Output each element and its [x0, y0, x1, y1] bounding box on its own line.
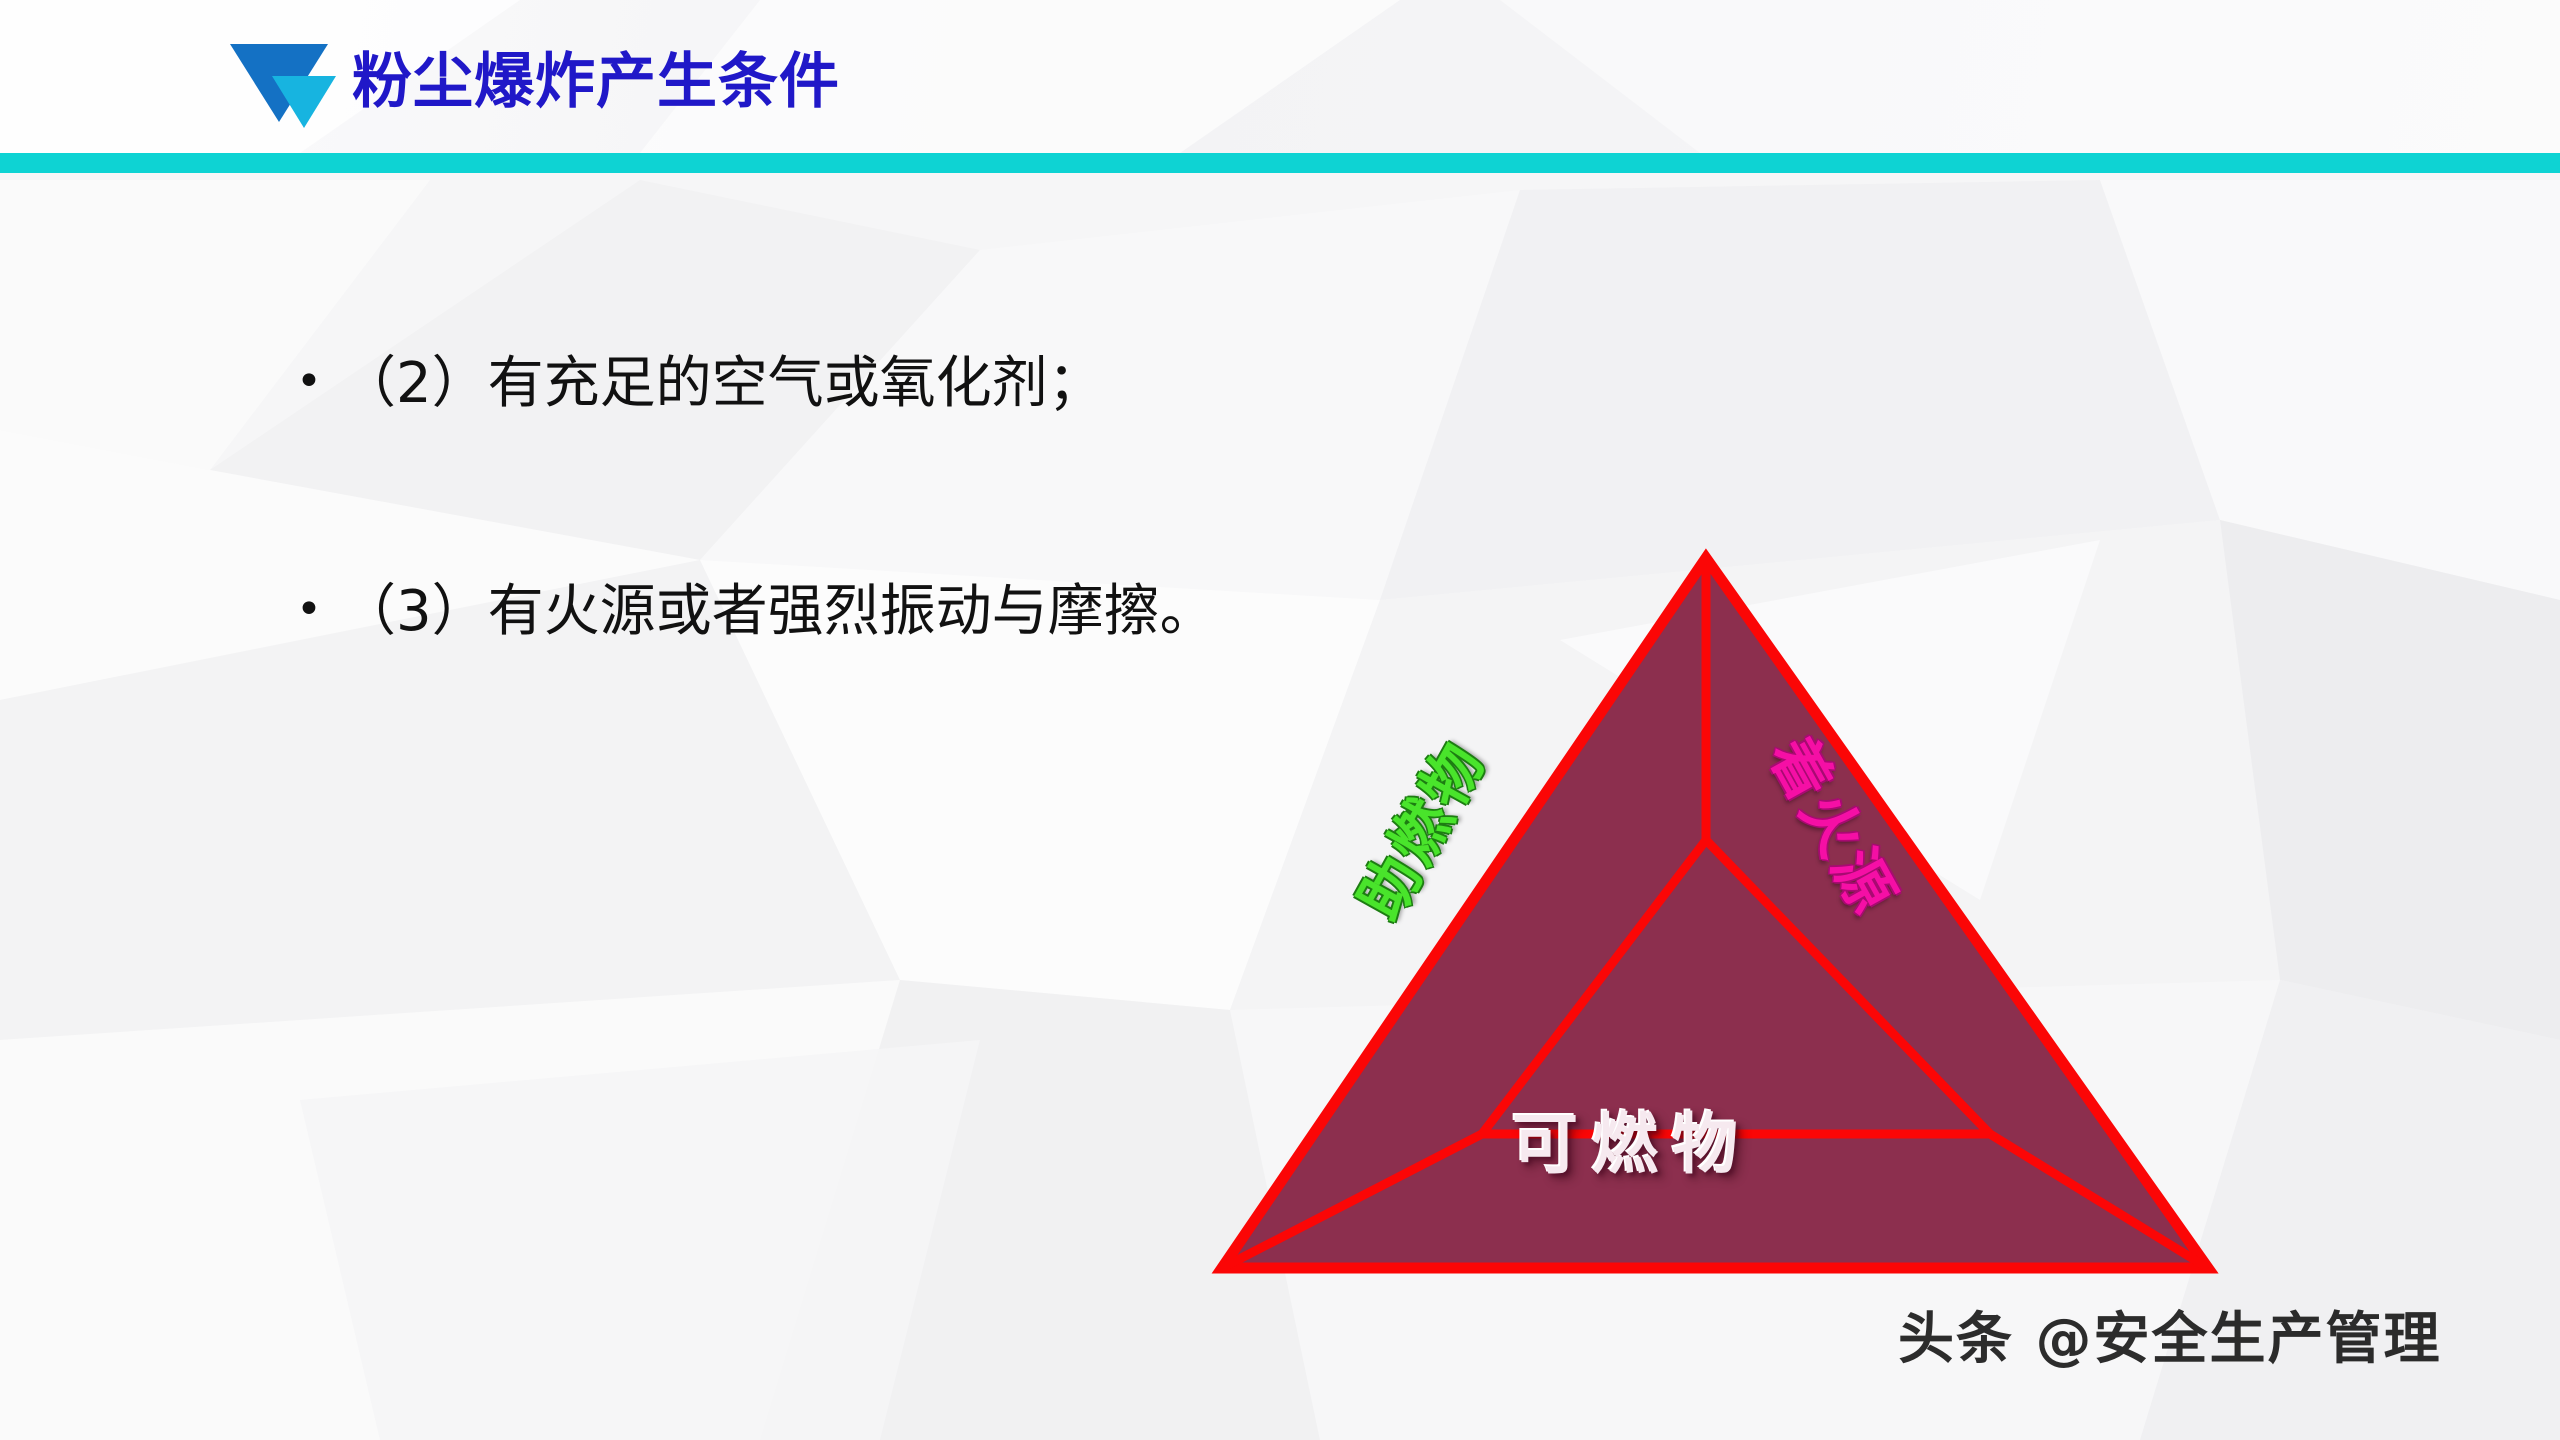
bullet-marker-icon: •: [296, 580, 340, 639]
bullet-marker-icon: •: [296, 352, 340, 411]
double-triangle-logo-icon: [228, 36, 338, 128]
header-divider: [0, 153, 2560, 173]
list-item: • （2）有充足的空气或氧化剂；: [296, 352, 1496, 416]
page-title: 粉尘爆炸产生条件: [352, 36, 840, 128]
slide-header: 粉尘爆炸产生条件: [0, 0, 2560, 153]
watermark: 头条 @安全生产管理: [1898, 1312, 2442, 1368]
bullet-text: （3）有火源或者强烈振动与摩擦。: [340, 580, 1216, 644]
fire-triangle-shape: [1200, 540, 2230, 1290]
bullet-text: （2）有充足的空气或氧化剂；: [340, 352, 1104, 416]
fire-triangle-diagram: 助燃物 着火源 可燃物: [1200, 540, 2230, 1290]
slide-canvas: 粉尘爆炸产生条件 • （2）有充足的空气或氧化剂； • （3）有火源或者强烈振动…: [0, 0, 2560, 1440]
